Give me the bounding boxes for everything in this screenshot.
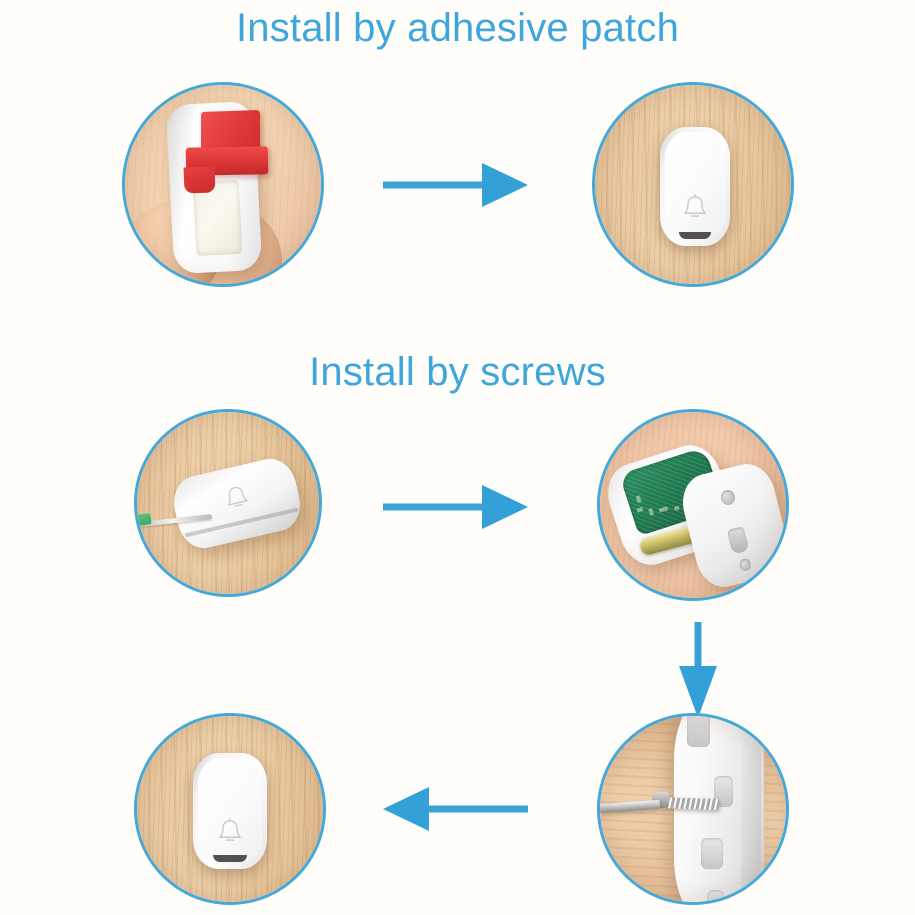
mounting-hole	[739, 558, 753, 572]
arrow-shaft	[423, 806, 528, 813]
doorbell-unit-tilted	[169, 454, 306, 553]
step-photo-pry-open	[137, 412, 319, 594]
arrow-shaft	[383, 182, 488, 189]
pcb-component	[674, 505, 680, 510]
step-photo-peel-adhesive	[125, 85, 321, 284]
step-photo-final-mounted	[137, 716, 323, 902]
arrow-down-screws	[676, 622, 720, 718]
pcb-component	[636, 506, 643, 512]
doorbell-face	[665, 132, 726, 241]
screwdriver-shaft	[600, 799, 660, 812]
scene-surface-beech	[137, 716, 323, 902]
arrow-shaft	[695, 622, 702, 670]
step-photo-press-to-wall	[595, 85, 791, 284]
arrow-head	[482, 163, 528, 207]
mounting-slot	[727, 526, 749, 555]
doorbell-bottom-strip	[679, 232, 710, 239]
scene-surface-beech	[595, 85, 791, 284]
section-title-adhesive: Install by adhesive patch	[0, 6, 915, 51]
scene-surface-beech	[137, 412, 319, 594]
arrow-head	[679, 666, 717, 718]
plate-notch	[707, 890, 725, 902]
bell-icon	[678, 192, 712, 226]
pcb-component	[636, 495, 641, 502]
arrow-right-screws	[383, 485, 528, 529]
pcb-component	[648, 507, 655, 516]
scene-surface-vertical-wood	[600, 716, 786, 902]
step-photo-separate-cover	[600, 412, 786, 598]
scene-surface-pink-wood	[600, 412, 786, 598]
red-adhesive-tab-lip	[183, 166, 215, 193]
step-photo-drive-screw	[600, 716, 786, 902]
section-title-screws: Install by screws	[0, 350, 915, 395]
doorbell-back-cover	[677, 458, 786, 592]
pry-tool-green-tip	[137, 513, 152, 526]
pcb-component	[659, 507, 668, 513]
arrow-shaft	[383, 504, 488, 511]
arrow-left-screws	[383, 787, 528, 831]
plate-notch	[701, 838, 722, 869]
scene-surface-skin	[125, 85, 321, 284]
plate-notch	[687, 716, 710, 747]
arrow-head	[482, 485, 528, 529]
arrow-right-adhesive	[383, 163, 528, 207]
doorbell-unit-mounted	[660, 127, 731, 246]
bell-icon	[218, 479, 256, 517]
back-plate-rim	[741, 716, 761, 902]
doorbell-bottom-strip	[213, 855, 246, 862]
bell-icon	[213, 816, 247, 850]
doorbell-unit-mounted-final	[193, 753, 267, 868]
mounting-hole	[720, 488, 737, 506]
arrow-head	[383, 787, 429, 831]
doorbell-face	[198, 758, 262, 863]
